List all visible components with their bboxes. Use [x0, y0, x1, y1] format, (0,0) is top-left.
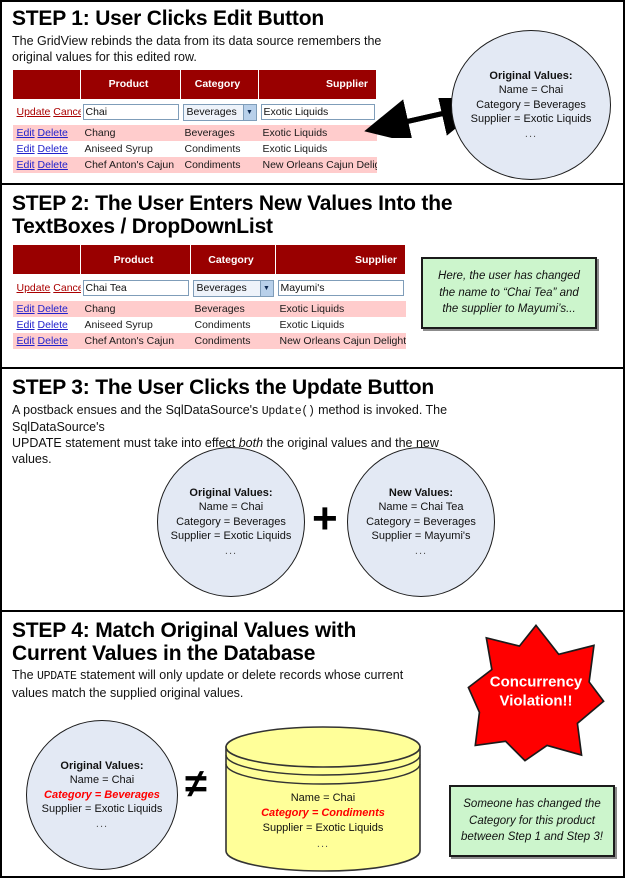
step3-title: STEP 3: The User Clicks the Update Butto… — [12, 377, 623, 400]
db-ellipsis: ... — [224, 837, 422, 852]
delete-link[interactable]: Delete — [38, 319, 68, 331]
plus-symbol: + — [312, 497, 338, 541]
bubble-ellipsis: ... — [42, 817, 163, 832]
bubble-new-values-step3: New Values: Name = Chai Tea Category = B… — [347, 447, 495, 597]
callout-step4: Someone has changed the Category for thi… — [449, 785, 615, 857]
row-category: Condiments — [181, 157, 259, 173]
row-product: Chang — [81, 125, 181, 141]
panel-step-3: STEP 3: The User Clicks the Update Butto… — [2, 369, 623, 612]
chevron-down-icon: ▼ — [260, 281, 273, 296]
product-textbox[interactable]: Chai — [83, 104, 179, 120]
bubble-line-1: Name = Chai — [171, 500, 292, 515]
callout-text: Here, the user has changed the name to “… — [438, 268, 580, 318]
row-product: Aniseed Syrup — [81, 317, 191, 333]
step4-title-line1: STEP 4: Match Original Values with — [12, 619, 356, 642]
cylinder-text: Name = Chai Category = Condiments Suppli… — [224, 791, 422, 852]
edit-link[interactable]: Edit — [17, 127, 35, 139]
bubble-line-3: Supplier = Exotic Liquids — [42, 802, 163, 817]
header-supplier: Supplier — [259, 69, 377, 99]
update-link[interactable]: Update — [17, 106, 51, 118]
step4-description: The UPDATE statement will only update or… — [12, 667, 452, 701]
update-link[interactable]: Update — [17, 282, 51, 294]
panel-step-1: STEP 1: User Clicks Edit Button The Grid… — [2, 2, 623, 185]
delete-link[interactable]: Delete — [38, 335, 68, 347]
category-dropdownlist[interactable]: Beverages ▼ — [183, 104, 257, 121]
callout-text: Someone has changed the Category for thi… — [461, 796, 603, 846]
step3-code-update: Update() — [262, 405, 315, 418]
bubble-original-values-step3: Original Values: Name = Chai Category = … — [157, 447, 305, 597]
step4-title-line2: Current Values in the Database — [12, 642, 315, 665]
gridview-step1: Product Category Supplier Update Cancel … — [12, 69, 377, 174]
diagram-page: STEP 1: User Clicks Edit Button The Grid… — [0, 0, 625, 878]
callout-line-1: Someone has changed the — [461, 796, 603, 813]
bubble-text: Original Values: Name = Chai Category = … — [167, 486, 296, 559]
step2-title-line2: TextBoxes / DropDownList — [12, 215, 273, 238]
bubble-line-3: Supplier = Exotic Liquids — [471, 112, 592, 127]
callout-step2: Here, the user has changed the name to “… — [421, 257, 597, 329]
bubble-text: Original Values: Name = Chai Category = … — [38, 759, 167, 832]
category-dropdownlist-value: Beverages — [187, 106, 237, 118]
gridview-edit-row: Update Cancel Chai Beverages ▼ Exotic Li… — [13, 99, 377, 125]
step1-title: STEP 1: User Clicks Edit Button — [12, 8, 623, 31]
product-textbox[interactable]: Chai Tea — [83, 280, 189, 296]
bubble-line-1: Name = Chai — [42, 773, 163, 788]
bubble-line-2: Category = Beverages — [471, 98, 592, 113]
table-row: Edit Delete Chef Anton's Cajun Condiment… — [13, 157, 377, 173]
header-command — [13, 245, 81, 275]
bubble-ellipsis: ... — [171, 544, 292, 559]
row-supplier: New Orleans Cajun Delights — [259, 157, 377, 173]
row-category: Beverages — [181, 125, 259, 141]
step4-desc-c: values match the supplied original value… — [12, 686, 243, 700]
gridview-step2: Product Category Supplier Update Cancel … — [12, 244, 406, 349]
edit-link[interactable]: Edit — [17, 303, 35, 315]
row-commands: Edit Delete — [13, 157, 81, 173]
step1-desc-line2: original values for this edited row. — [12, 50, 197, 64]
row-supplier: Exotic Liquids — [276, 317, 406, 333]
category-dropdownlist[interactable]: Beverages ▼ — [193, 280, 274, 297]
panel-step-4: STEP 4: Match Original Values with Curre… — [2, 612, 623, 876]
not-equal-symbol: ≠ — [185, 764, 207, 804]
bubble-line-3: Supplier = Exotic Liquids — [171, 529, 292, 544]
edit-row-product-cell: Chai Tea — [81, 275, 191, 301]
table-row: Edit Delete Chef Anton's Cajun Condiment… — [13, 333, 406, 349]
panel-step-2: STEP 2: The User Enters New Values Into … — [2, 185, 623, 369]
table-row: Edit Delete Chang Beverages Exotic Liqui… — [13, 301, 406, 317]
gridview-header-row: Product Category Supplier — [13, 69, 377, 99]
step3-desc-a: A postback ensues and the SqlDataSource'… — [12, 403, 262, 417]
step1-desc-line1: The GridView rebinds the data from its d… — [12, 34, 381, 48]
row-supplier: Exotic Liquids — [259, 141, 377, 157]
bubble-header: Original Values: — [471, 69, 592, 84]
supplier-textbox[interactable]: Mayumi's — [278, 280, 404, 296]
callout-line-3: between Step 1 and Step 3! — [461, 829, 603, 846]
bubble-line-2: Category = Beverages — [171, 515, 292, 530]
supplier-textbox[interactable]: Exotic Liquids — [261, 104, 375, 120]
gridview-edit-row: Update Cancel Chai Tea Beverages ▼ Mayum… — [13, 275, 406, 301]
bubble-line-3: Supplier = Mayumi's — [366, 529, 476, 544]
star-shape — [452, 624, 620, 762]
header-supplier: Supplier — [276, 245, 406, 275]
row-product: Chang — [81, 301, 191, 317]
chevron-down-icon: ▼ — [243, 105, 256, 120]
callout-line-1: Here, the user has changed — [438, 268, 580, 285]
concurrency-violation-star: Concurrency Violation!! — [452, 624, 620, 762]
row-commands: Edit Delete — [13, 317, 81, 333]
bubble-original-values-step1: Original Values: Name = Chai Category = … — [451, 30, 611, 180]
bubble-line-2-highlight: Category = Beverages — [42, 788, 163, 803]
row-product: Chef Anton's Cajun — [81, 157, 181, 173]
database-cylinder: Name = Chai Category = Condiments Suppli… — [224, 725, 422, 873]
edit-row-supplier-cell: Mayumi's — [276, 275, 406, 301]
bubble-ellipsis: ... — [366, 544, 476, 559]
callout-line-2: the name to “Chai Tea” and — [438, 285, 580, 302]
step4-code-update: UPDATE — [37, 670, 77, 683]
edit-row-commands: Update Cancel — [13, 275, 81, 301]
callout-line-3: the supplier to Mayumi’s... — [438, 301, 580, 318]
edit-row-commands: Update Cancel — [13, 99, 81, 125]
edit-link[interactable]: Edit — [17, 335, 35, 347]
gridview-header-row: Product Category Supplier — [13, 245, 406, 275]
db-line-3: Supplier = Exotic Liquids — [224, 821, 422, 836]
edit-row-category-cell: Beverages ▼ — [191, 275, 276, 301]
step1-description: The GridView rebinds the data from its d… — [12, 33, 442, 65]
bubble-text: Original Values: Name = Chai Category = … — [467, 69, 596, 142]
bubble-line-1: Name = Chai Tea — [366, 500, 476, 515]
header-product: Product — [81, 69, 181, 99]
cancel-link[interactable]: Cancel — [53, 106, 80, 118]
step4-desc-b: statement will only update or delete rec… — [77, 668, 404, 682]
cancel-link[interactable]: Cancel — [53, 282, 80, 294]
category-dropdownlist-value: Beverages — [197, 282, 247, 294]
bubble-text: New Values: Name = Chai Tea Category = B… — [362, 486, 480, 559]
header-category: Category — [191, 245, 276, 275]
edit-link[interactable]: Edit — [17, 159, 35, 171]
bubble-original-values-step4: Original Values: Name = Chai Category = … — [26, 720, 178, 870]
bubble-ellipsis: ... — [471, 127, 592, 142]
row-product: Aniseed Syrup — [81, 141, 181, 157]
edit-row-supplier-cell: Exotic Liquids — [259, 99, 377, 125]
bubble-header: Original Values: — [42, 759, 163, 774]
row-commands: Edit Delete — [13, 301, 81, 317]
delete-link[interactable]: Delete — [38, 303, 68, 315]
step3-desc-c: UPDATE statement must take into effect — [12, 436, 239, 450]
header-product: Product — [81, 245, 191, 275]
step4-desc-a: The — [12, 668, 37, 682]
edit-row-product-cell: Chai — [81, 99, 181, 125]
db-line-1: Name = Chai — [224, 791, 422, 806]
edit-link[interactable]: Edit — [17, 319, 35, 331]
delete-link[interactable]: Delete — [38, 159, 68, 171]
row-category: Condiments — [181, 141, 259, 157]
bubble-header: New Values: — [366, 486, 476, 501]
delete-link[interactable]: Delete — [38, 143, 68, 155]
step2-title-line1: STEP 2: The User Enters New Values Into … — [12, 192, 452, 215]
row-commands: Edit Delete — [13, 333, 81, 349]
row-category: Condiments — [191, 317, 276, 333]
table-row: Edit Delete Aniseed Syrup Condiments Exo… — [13, 317, 406, 333]
db-line-2-highlight: Category = Condiments — [224, 806, 422, 821]
row-category: Beverages — [191, 301, 276, 317]
bubble-line-1: Name = Chai — [471, 83, 592, 98]
edit-link[interactable]: Edit — [17, 143, 35, 155]
row-supplier: Exotic Liquids — [276, 301, 406, 317]
delete-link[interactable]: Delete — [38, 127, 68, 139]
step2-title: STEP 2: The User Enters New Values Into … — [12, 193, 623, 238]
header-category: Category — [181, 69, 259, 99]
row-supplier: New Orleans Cajun Delights — [276, 333, 406, 349]
row-supplier: Exotic Liquids — [259, 125, 377, 141]
bubble-line-2: Category = Beverages — [366, 515, 476, 530]
row-category: Condiments — [191, 333, 276, 349]
row-product: Chef Anton's Cajun — [81, 333, 191, 349]
header-command — [13, 69, 81, 99]
callout-line-2: Category for this product — [461, 813, 603, 830]
table-row: Edit Delete Aniseed Syrup Condiments Exo… — [13, 141, 377, 157]
bubble-header: Original Values: — [171, 486, 292, 501]
row-commands: Edit Delete — [13, 125, 81, 141]
table-row: Edit Delete Chang Beverages Exotic Liqui… — [13, 125, 377, 141]
row-commands: Edit Delete — [13, 141, 81, 157]
edit-row-category-cell: Beverages ▼ — [181, 99, 259, 125]
